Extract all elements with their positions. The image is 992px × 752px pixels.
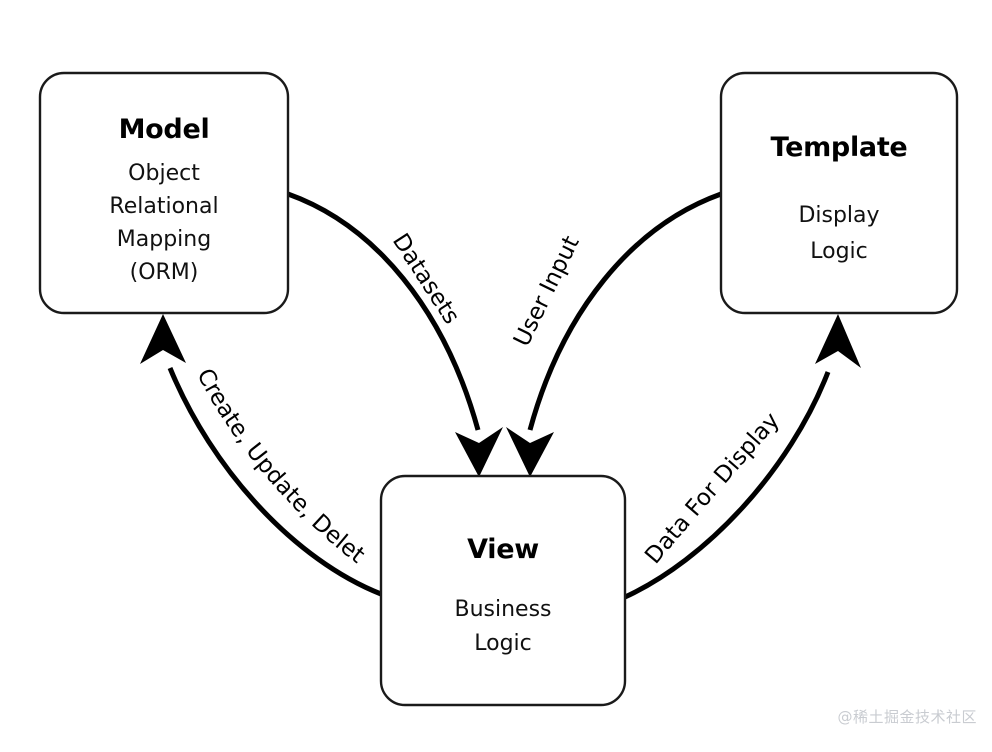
node-model-line-4: (ORM) — [130, 260, 199, 285]
node-template-box[interactable] — [721, 73, 957, 313]
node-model-title: Model — [119, 114, 210, 145]
node-model-line-1: Object — [128, 161, 200, 186]
edge-view-to-model-arrowhead — [140, 314, 186, 364]
node-template[interactable]: Template Display Logic — [721, 73, 957, 313]
node-view-box[interactable] — [381, 476, 625, 705]
edge-model-to-view — [288, 194, 503, 477]
mvt-architecture-diagram: Datasets User Input Create, Update, Dele… — [0, 0, 992, 752]
watermark: @稀土掘金技术社区 — [837, 708, 977, 726]
node-model-line-2: Relational — [109, 194, 218, 219]
node-view-line-2: Logic — [474, 631, 532, 656]
edge-template-to-view-line — [530, 194, 721, 430]
edge-model-to-view-arrowhead — [455, 427, 503, 477]
node-template-title: Template — [771, 132, 908, 163]
node-template-line-1: Display — [798, 203, 879, 228]
node-model-line-3: Mapping — [117, 227, 211, 252]
edge-label-data-for-display-text: Data For Display — [640, 408, 785, 569]
node-template-line-2: Logic — [810, 239, 868, 264]
diagram-canvas: Datasets User Input Create, Update, Dele… — [0, 0, 992, 752]
node-view[interactable]: View Business Logic — [381, 476, 625, 705]
edge-label-user-input-text: User Input — [509, 232, 585, 351]
node-model[interactable]: Model Object Relational Mapping (ORM) — [40, 73, 288, 313]
edge-view-to-template-arrowhead — [815, 314, 861, 368]
edge-template-to-view-arrowhead — [506, 427, 554, 477]
node-view-title: View — [467, 534, 539, 565]
edge-label-user-input: User Input — [509, 232, 585, 351]
edge-label-data-for-display: Data For Display — [640, 408, 785, 569]
node-view-line-1: Business — [454, 597, 551, 622]
